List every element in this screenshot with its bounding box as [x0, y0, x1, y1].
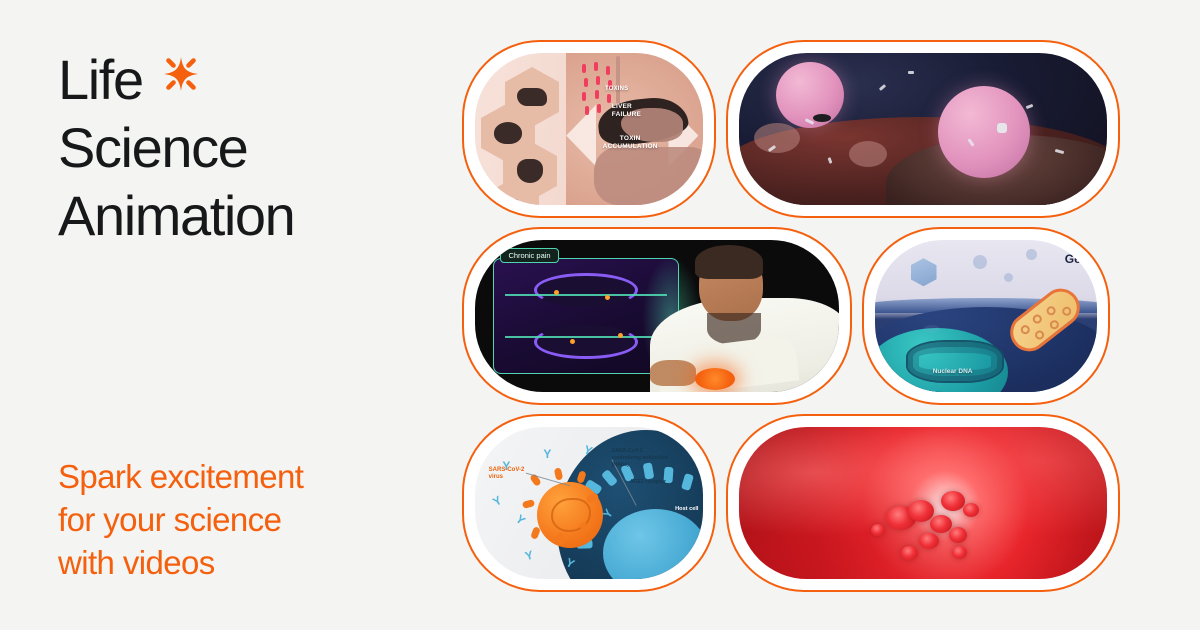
spike-protein-7 [530, 526, 541, 540]
label-sars-cov-2-virus: SARS-CoV-2 virus [489, 467, 525, 482]
brand-line-1: Life [58, 52, 438, 108]
tagline-line-1: Spark excitement [58, 455, 428, 498]
pain-node-3 [570, 339, 575, 344]
cell-nucleus-card[interactable]: Nuclear DNA Gen [862, 227, 1110, 405]
red-blood-cell-5 [949, 527, 967, 543]
light-particle-1 [997, 123, 1007, 133]
brand-line-2: Science [58, 120, 438, 176]
virus-body [537, 482, 603, 548]
video-thumbnail-gallery: TOXINS LIVER FAILURE TOXIN ACCUMULATION [462, 40, 1152, 592]
debris-2 [879, 85, 886, 92]
brand-logo: Life Science Animation [58, 52, 438, 244]
nuclear-dna-strands [906, 340, 1004, 383]
brand-word-life: Life [58, 52, 143, 108]
brand-word-animation: Animation [58, 188, 294, 244]
spike-protein-8 [522, 500, 535, 510]
label-neutralizing-antibodies: SARS-CoV-2 neutralizing antibodies (NAbs… [612, 448, 669, 468]
sars-cov-2-card[interactable]: Y Y Y Y Y Y Y Y Y SARS-CoV-2 virus SARS-… [462, 414, 716, 592]
label-toxins: TOXINS [605, 86, 628, 93]
cell-nucleus-thumbnail: Nuclear DNA Gen [875, 240, 1097, 392]
antibody-2: Y [543, 448, 555, 460]
immune-cells-card[interactable] [726, 40, 1120, 218]
organ-hex-icons [481, 63, 567, 203]
label-ace2-receptor: ACE2 receptor [630, 479, 666, 486]
red-blood-cell-9 [952, 546, 967, 559]
tagline: Spark excitement for your science with v… [58, 455, 428, 584]
intestine-shape [594, 147, 703, 205]
liver-failure-card[interactable]: TOXINS LIVER FAILURE TOXIN ACCUMULATION [462, 40, 716, 218]
brand-line-3: Animation [58, 188, 438, 244]
vesicle-2 [1026, 249, 1037, 260]
label-nuclear-dna: Nuclear DNA [933, 368, 973, 375]
chronic-pain-thumbnail: Chronic pain [475, 240, 839, 392]
sparkle-starburst-icon [157, 54, 205, 102]
label-toxin-accumulation: TOXIN ACCUMULATION [603, 135, 658, 150]
antibody-5: Y [514, 513, 531, 530]
hand-shape [650, 360, 696, 386]
patient-illustration [650, 240, 839, 392]
gallery-row-1: TOXINS LIVER FAILURE TOXIN ACCUMULATION [462, 40, 1152, 218]
label-liver-failure: LIVER FAILURE [612, 103, 641, 118]
bone-lower [534, 325, 637, 360]
gallery-row-2: Chronic pain [462, 227, 1152, 405]
label-host-cell: Host cell [675, 506, 698, 512]
vesicle-3 [1004, 273, 1013, 282]
brand-word-science: Science [58, 120, 247, 176]
vesicle-4 [924, 325, 940, 333]
left-panel: Life Science Animation Spark excite [0, 0, 460, 630]
antibody-6: Y [524, 547, 539, 562]
debris-3 [908, 71, 914, 74]
blood-vessel-thumbnail [739, 427, 1107, 579]
label-gene: Gen [1065, 252, 1088, 266]
bone-upper [534, 273, 637, 308]
liver-failure-thumbnail: TOXINS LIVER FAILURE TOXIN ACCUMULATION [475, 53, 703, 205]
debris-5 [1026, 104, 1034, 109]
sars-cov-2-thumbnail: Y Y Y Y Y Y Y Y Y SARS-CoV-2 virus SARS-… [475, 427, 703, 579]
chronic-pain-card[interactable]: Chronic pain [462, 227, 852, 405]
immune-cell-1 [776, 62, 844, 128]
blood-vessel-card[interactable] [726, 414, 1120, 592]
immune-cells-thumbnail [739, 53, 1107, 205]
viral-capsid-1 [911, 258, 937, 286]
spike-protein-2 [554, 467, 563, 480]
label-chronic-pain: Chronic pain [500, 248, 558, 263]
tagline-line-2: for your science [58, 498, 428, 541]
red-blood-cell-8 [901, 546, 918, 560]
pain-node-1 [554, 290, 559, 295]
antibody-4: Y [491, 492, 507, 508]
tagline-line-3: with videos [58, 541, 428, 584]
hair-shape [695, 245, 763, 279]
vesicle-1 [973, 255, 987, 269]
tissue-blob-1 [754, 123, 800, 153]
gallery-row-3: Y Y Y Y Y Y Y Y Y SARS-CoV-2 virus SARS-… [462, 414, 1152, 592]
immune-cell-2 [938, 86, 1030, 178]
dark-particle-1 [813, 114, 831, 122]
